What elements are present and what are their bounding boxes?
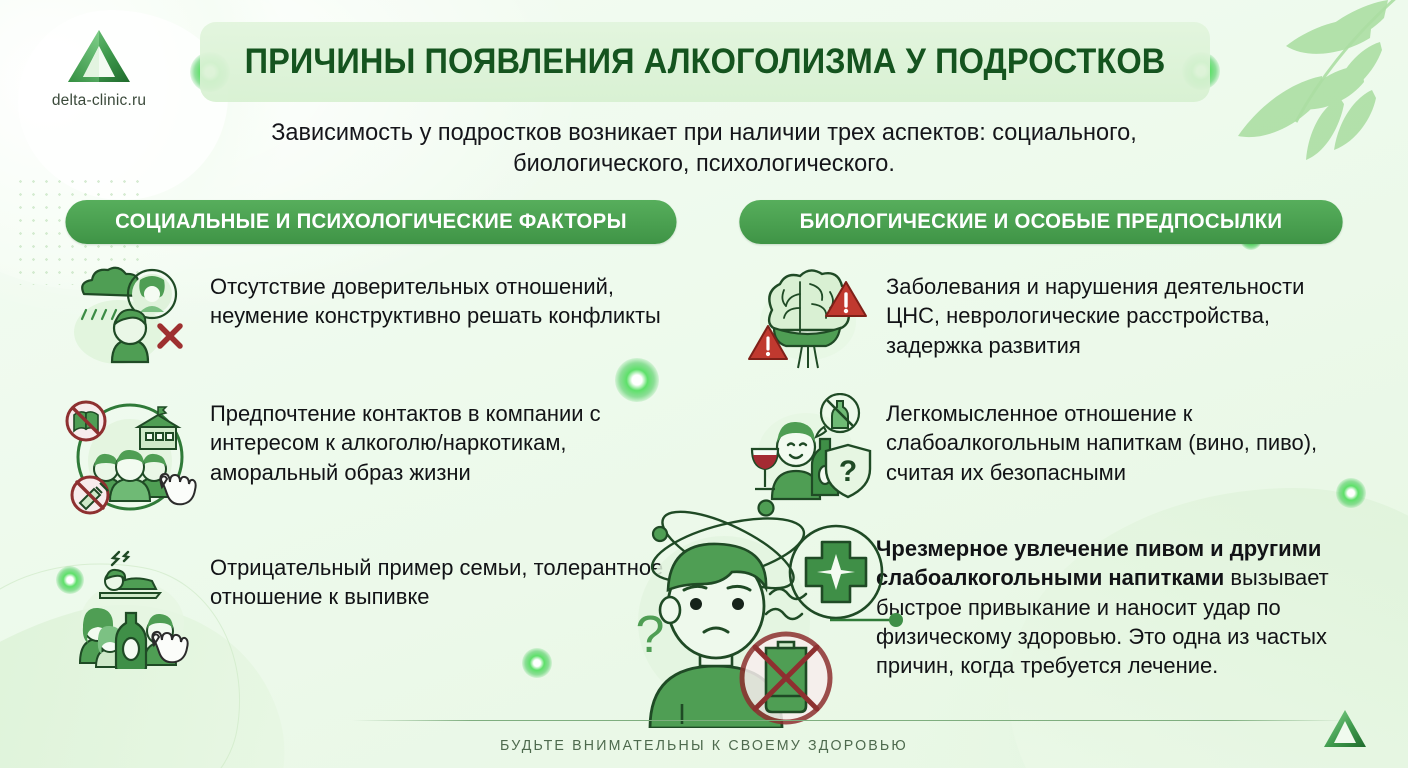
list-item: Чрезмерное увлечение пивом и другими сла… (876, 534, 1364, 680)
footer-divider (352, 720, 1346, 721)
page-subtitle: Зависимость у подростков возникает при н… (224, 118, 1184, 180)
footer-delta-logo-icon (1322, 708, 1368, 750)
list-item: Отсутствие доверительных отношений, неум… (70, 266, 694, 371)
brand-site-label: delta-clinic.ru (40, 92, 158, 110)
no-book-school-group-no-syringe-icon (62, 393, 198, 523)
title-banner: ПРИЧИНЫ ПОЯВЛЕНИЯ АЛКОГОЛИЗМА У ПОДРОСТК… (200, 22, 1210, 102)
list-item-text: Легкомысленное отношение к слабоалкоголь… (886, 393, 1350, 487)
footer-note: БУДЬТЕ ВНИМАТЕЛЬНЫ К СВОЕМУ ЗДОРОВЬЮ (14, 738, 1394, 754)
left-column: СОЦИАЛЬНЫЕ И ПСИХОЛОГИЧЕСКИЕ ФАКТОРЫ (56, 200, 694, 674)
brain-warning-icon (748, 266, 874, 375)
list-item: ? Легкомысленное отношение к слабоалкого… (748, 393, 1362, 508)
list-item: Отрицательный пример семьи, толерантное … (70, 547, 694, 674)
list-item-text: Заболевания и нарушения деятельности ЦНС… (886, 266, 1350, 360)
confused-teen-no-can-medical-cross-icon: ? (616, 498, 916, 728)
list-item-text: Отрицательный пример семьи, толерантное … (210, 547, 682, 612)
right-column-heading: БИОЛОГИЧЕСКИЕ И ОСОБЫЕ ПРЕДПОСЫЛКИ (739, 200, 1342, 244)
svg-text:?: ? (839, 455, 857, 488)
infographic-canvas: delta-clinic.ru ПРИЧИНЫ ПОЯВЛЕНИЯ АЛКОГО… (0, 0, 1408, 768)
list-item: Предпочтение контактов в компании с инте… (62, 393, 694, 523)
list-item-text: Отсутствие доверительных отношений, неум… (210, 266, 682, 331)
list-item-text-highlight: Чрезмерное увлечение пивом и другими сла… (876, 534, 1352, 680)
teen-wine-beer-shield-icon: ? (748, 393, 874, 508)
left-column-heading: СОЦИАЛЬНЫЕ И ПСИХОЛОГИЧЕСКИЕ ФАКТОРЫ (65, 200, 676, 244)
delta-logo-icon (66, 28, 132, 86)
list-item: Заболевания и нарушения деятельности ЦНС… (748, 266, 1362, 375)
page-title: ПРИЧИНЫ ПОЯВЛЕНИЯ АЛКОГОЛИЗМА У ПОДРОСТК… (235, 22, 1174, 102)
leaf-branch-icon (1212, 0, 1402, 164)
list-item-text: Предпочтение контактов в компании с инте… (210, 393, 682, 487)
rain-cloud-avatar-boy-cross-icon (70, 266, 198, 371)
brand-logo[interactable]: delta-clinic.ru (40, 28, 158, 110)
svg-text:?: ? (636, 606, 665, 664)
family-bottle-drunk-father-icon (70, 547, 198, 674)
